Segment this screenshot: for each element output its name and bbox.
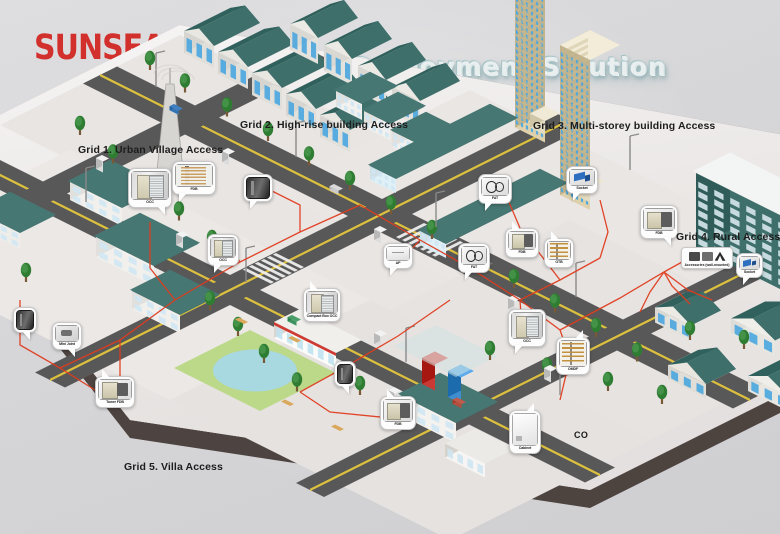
compact-occ-tail bbox=[310, 281, 318, 290]
fdb-multi-tail bbox=[512, 221, 520, 230]
cabinet-tail bbox=[526, 403, 534, 412]
tower-fdb-tail bbox=[102, 369, 110, 378]
socket-rural-label: Socket bbox=[744, 270, 755, 275]
fat-multi-art bbox=[481, 177, 509, 196]
fdb-village-label: FDB bbox=[190, 187, 197, 192]
compact-occ-equipment-icon bbox=[306, 291, 338, 314]
occ-street-equipment-icon bbox=[511, 312, 543, 339]
callout-post-villa[interactable] bbox=[334, 361, 356, 387]
occ-village-b-label: OCC bbox=[219, 258, 227, 263]
fat-tower-art bbox=[461, 246, 487, 265]
socket-rural-tail bbox=[743, 276, 751, 285]
compact-occ-art bbox=[306, 291, 338, 314]
otb-multi-equipment-icon bbox=[547, 241, 571, 260]
callout-cabinet[interactable]: Cabinet bbox=[509, 410, 541, 454]
socket-rural-art bbox=[739, 256, 760, 270]
occ-village-b-art bbox=[210, 237, 236, 258]
accessory-clamp-icon bbox=[689, 252, 700, 261]
callout-ap-highrise[interactable]: AP bbox=[383, 243, 413, 269]
post-villa-equipment-icon bbox=[337, 364, 353, 384]
callout-omdf[interactable]: OMDF bbox=[556, 337, 590, 375]
socket-multi-equipment-icon bbox=[569, 169, 595, 186]
omdf-art bbox=[559, 340, 587, 367]
post-village-tail bbox=[250, 200, 258, 209]
callout-compact-occ[interactable]: Compact Box OCC bbox=[303, 288, 341, 322]
accessory-hook-icon bbox=[715, 252, 726, 261]
callout-otb-multi[interactable]: OTB bbox=[544, 238, 574, 268]
post-villa-tail bbox=[341, 385, 349, 394]
occ-street-tail bbox=[515, 345, 523, 354]
post-villa-art bbox=[337, 364, 353, 384]
fdb-villa-label: FDB bbox=[394, 422, 401, 427]
fat-tower-tail bbox=[465, 271, 473, 280]
mini-joint-label: Mini Joint bbox=[59, 342, 75, 347]
occ-village-a-art bbox=[131, 171, 169, 200]
callout-fat-tower[interactable]: FAT bbox=[458, 243, 490, 273]
grid-2-caption: Grid 2. High-rise building Access bbox=[240, 119, 408, 131]
occ-village-a-equipment-icon bbox=[131, 171, 169, 200]
fat-multi-tail bbox=[485, 202, 493, 211]
callout-tower-fdb[interactable]: Tower FDB bbox=[95, 376, 135, 408]
otb-multi-label: OTB bbox=[555, 260, 562, 265]
callout-occ-street[interactable]: OCC bbox=[508, 309, 546, 347]
callout-fdb-villa[interactable]: FDB bbox=[380, 396, 416, 430]
occ-village-b-tail bbox=[214, 264, 222, 273]
callout-fdb-multi[interactable]: FDB bbox=[505, 228, 539, 258]
fdb-multi-label: FDB bbox=[518, 250, 525, 255]
ap-highrise-tail bbox=[390, 267, 398, 276]
post-left-tail bbox=[22, 331, 30, 340]
fdb-rural-tail bbox=[663, 237, 671, 246]
ftth-deployment-diagram: SUNSEA FTTH Deployment Solution bbox=[0, 0, 780, 534]
fdb-multi-equipment-icon bbox=[508, 231, 536, 250]
compact-occ-label: Compact Box OCC bbox=[307, 314, 338, 319]
cabinet-art bbox=[512, 413, 538, 446]
callout-socket-multi[interactable]: Socket bbox=[566, 166, 598, 194]
fdb-villa-art bbox=[383, 399, 413, 422]
fdb-rural-equipment-icon bbox=[643, 208, 675, 231]
pond bbox=[213, 350, 297, 392]
callout-post-left[interactable] bbox=[13, 307, 37, 333]
fdb-rural-art bbox=[643, 208, 675, 231]
ap-highrise-label: AP bbox=[396, 261, 401, 266]
post-village-art bbox=[246, 177, 270, 199]
cabinet-label: Cabinet bbox=[519, 446, 531, 451]
accessory-bracket-icon bbox=[702, 252, 713, 261]
omdf-label: OMDF bbox=[568, 367, 578, 372]
fdb-rural-label: FDB bbox=[655, 231, 662, 236]
socket-rural-equipment-icon bbox=[739, 256, 760, 270]
accessory-icons bbox=[689, 249, 726, 264]
accessories-wall-mounted-card[interactable]: Accessories (wall-mounted) bbox=[681, 247, 733, 269]
occ-village-b-equipment-icon bbox=[210, 237, 236, 258]
ap-highrise-art bbox=[386, 246, 410, 261]
socket-multi-tail bbox=[573, 192, 581, 201]
post-village-equipment-icon bbox=[246, 177, 270, 199]
post-left-equipment-icon bbox=[16, 310, 34, 330]
fat-tower-label: FAT bbox=[471, 265, 477, 270]
fdb-villa-equipment-icon bbox=[383, 399, 413, 422]
callout-occ-village-b[interactable]: OCC bbox=[207, 234, 239, 266]
callout-fat-multi[interactable]: FAT bbox=[478, 174, 512, 204]
occ-street-art bbox=[511, 312, 543, 339]
accessories-label: Accessories (wall-mounted) bbox=[684, 264, 729, 267]
callout-fdb-village[interactable]: FDB bbox=[172, 161, 216, 195]
socket-multi-art bbox=[569, 169, 595, 186]
mini-joint-equipment-icon bbox=[55, 325, 79, 342]
socket-multi-label: Socket bbox=[576, 186, 587, 191]
fdb-village-tail bbox=[179, 193, 187, 202]
tower-fdb-equipment-icon bbox=[98, 379, 132, 400]
fdb-village-art bbox=[175, 164, 213, 187]
tower-fdb-art bbox=[98, 379, 132, 400]
co-label: CO bbox=[574, 430, 588, 440]
callout-socket-rural[interactable]: Socket bbox=[736, 253, 763, 278]
callout-post-village[interactable] bbox=[243, 174, 273, 202]
callout-fdb-rural[interactable]: FDB bbox=[640, 205, 678, 239]
fat-multi-label: FAT bbox=[492, 196, 498, 201]
tower-fdb-label: Tower FDB bbox=[106, 400, 124, 405]
occ-village-a-label: OCC bbox=[146, 200, 154, 205]
mini-joint-art bbox=[55, 325, 79, 342]
omdf-equipment-icon bbox=[559, 340, 587, 367]
omdf-tail bbox=[575, 330, 583, 339]
fat-tower-equipment-icon bbox=[461, 246, 487, 265]
occ-village-a-tail bbox=[157, 206, 165, 215]
grid-1-caption: Grid 1. Urban Village Access bbox=[78, 144, 223, 156]
ap-highrise-equipment-icon bbox=[386, 246, 410, 261]
fat-multi-equipment-icon bbox=[481, 177, 509, 196]
callout-mini-joint[interactable]: Mini Joint bbox=[52, 322, 82, 350]
fdb-villa-tail bbox=[387, 389, 395, 398]
post-left-art bbox=[16, 310, 34, 330]
otb-multi-tail bbox=[551, 231, 559, 240]
callout-occ-village-a[interactable]: OCC bbox=[128, 168, 172, 208]
grid-5-caption: Grid 5. Villa Access bbox=[124, 461, 223, 473]
grid-3-caption: Grid 3. Multi-storey building Access bbox=[533, 120, 715, 132]
mini-joint-tail bbox=[67, 348, 75, 357]
cabinet-equipment-icon bbox=[512, 413, 538, 446]
otb-multi-art bbox=[547, 241, 571, 260]
grid-4-caption: Grid 4. Rural Access bbox=[676, 231, 780, 243]
fdb-village-equipment-icon bbox=[175, 164, 213, 187]
fdb-multi-art bbox=[508, 231, 536, 250]
occ-street-label: OCC bbox=[523, 339, 531, 344]
